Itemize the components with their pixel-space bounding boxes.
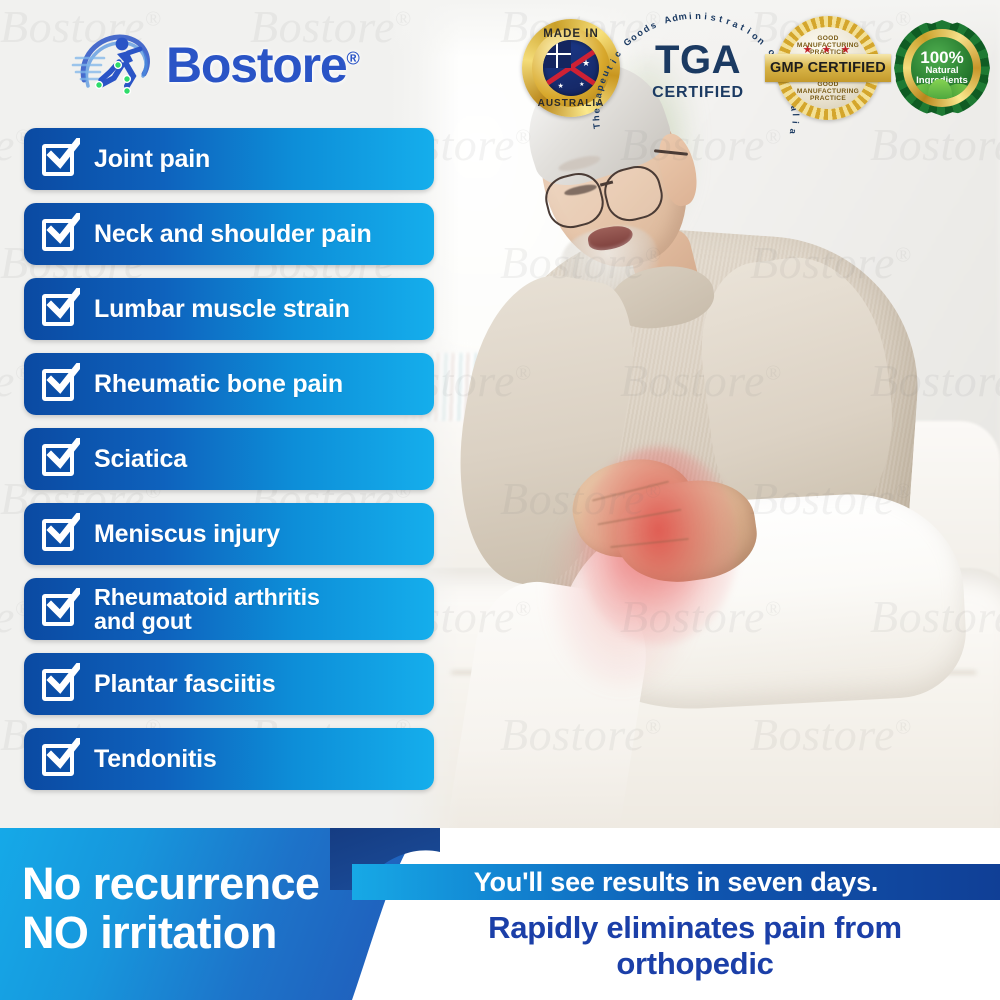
badge-gmp-ribbon-text: GMP CERTIFIED — [770, 60, 886, 76]
checkbox-checked-icon — [40, 365, 80, 403]
banner-left-line2: NO irritation — [22, 909, 372, 958]
badge-tga-sub-text: CERTIFIED — [634, 84, 762, 102]
photo-person — [390, 0, 1000, 860]
checklist-item[interactable]: Meniscus injury — [24, 503, 434, 565]
checkbox-checked-icon — [40, 290, 80, 328]
checklist-item[interactable]: Rheumatoid arthritisand gout — [24, 578, 434, 640]
checklist-item-label: Rheumatic bone pain — [94, 371, 343, 397]
registered-mark: ® — [347, 48, 359, 68]
checklist-item-label: Plantar fasciitis — [94, 671, 275, 697]
badge-gmp-arc-bottom: GOOD MANUFACTURING PRACTICE — [787, 81, 869, 102]
condition-checklist: Joint painNeck and shoulder painLumbar m… — [24, 128, 434, 803]
knee-pain-glow — [579, 447, 738, 645]
checklist-item[interactable]: Rheumatic bone pain — [24, 353, 434, 415]
checklist-item-label: Lumbar muscle strain — [94, 296, 350, 322]
checklist-item[interactable]: Lumbar muscle strain — [24, 278, 434, 340]
product-marketing-image: Bostore®Bostore®Bostore®Bostore®Bostore®… — [0, 0, 1000, 1000]
checkbox-checked-icon — [40, 215, 80, 253]
checkbox-checked-icon — [40, 140, 80, 178]
checklist-item-label: Sciatica — [94, 446, 187, 472]
bottom-banner: No recurrence NO irritation You'll see r… — [0, 828, 1000, 1000]
checklist-item[interactable]: Tendonitis — [24, 728, 434, 790]
header: Bostore® ★ ★ ★ MADE IN AU — [0, 0, 1000, 125]
checklist-item[interactable]: Joint pain — [24, 128, 434, 190]
brand-name: Bostore® — [166, 40, 359, 90]
banner-headline-bar: You'll see results in seven days. — [352, 864, 1000, 900]
checklist-item[interactable]: Neck and shoulder pain — [24, 203, 434, 265]
checklist-item-label: Rheumatoid arthritisand gout — [94, 585, 320, 634]
checkbox-checked-icon — [40, 665, 80, 703]
banner-subtext: Rapidly eliminates pain from orthopedic — [400, 910, 990, 982]
badge-aus-bottom-text: AUSTRALIA — [522, 98, 620, 109]
badge-made-in-australia: ★ ★ ★ MADE IN AUSTRALIA — [522, 19, 620, 117]
checklist-item[interactable]: Plantar fasciitis — [24, 653, 434, 715]
australian-flag-icon: ★ ★ ★ — [543, 40, 599, 96]
hero-photo — [390, 0, 1000, 860]
checkbox-checked-icon — [40, 440, 80, 478]
banner-sub-line1: Rapidly eliminates pain from — [400, 910, 990, 946]
badge-natural-percent: 100% — [920, 49, 963, 66]
checklist-item-label: Neck and shoulder pain — [94, 221, 372, 247]
checklist-item-label: Meniscus injury — [94, 521, 280, 547]
checklist-item[interactable]: Sciatica — [24, 428, 434, 490]
banner-left-line1: No recurrence — [22, 860, 372, 909]
badge-gmp-certified: GOOD MANUFACTURING PRACTICE ★ ★ ★ GOOD M… — [776, 16, 880, 120]
badge-natural-ingredients: 100% Natural Ingredients — [894, 20, 990, 116]
checkbox-checked-icon — [40, 590, 80, 628]
badge-aus-top-text: MADE IN — [522, 28, 620, 40]
banner-headline-text: You'll see results in seven days. — [474, 867, 879, 898]
badge-tga-certified: Therapeutic Goods Administration of Aust… — [634, 14, 762, 122]
checklist-item-label: Joint pain — [94, 146, 210, 172]
banner-left-text: No recurrence NO irritation — [22, 860, 372, 957]
certification-badges: ★ ★ ★ MADE IN AUSTRALIA Therapeutic Good… — [522, 14, 990, 122]
badge-tga-main-text: TGA — [634, 40, 762, 80]
brand-logo[interactable]: Bostore® — [70, 24, 359, 106]
running-man-logo-icon — [70, 24, 160, 106]
checkbox-checked-icon — [40, 515, 80, 553]
checklist-item-label: Tendonitis — [94, 746, 217, 772]
badge-gmp-ribbon: GMP CERTIFIED — [765, 54, 891, 82]
banner-sub-line2: orthopedic — [400, 946, 990, 982]
checkbox-checked-icon — [40, 740, 80, 778]
